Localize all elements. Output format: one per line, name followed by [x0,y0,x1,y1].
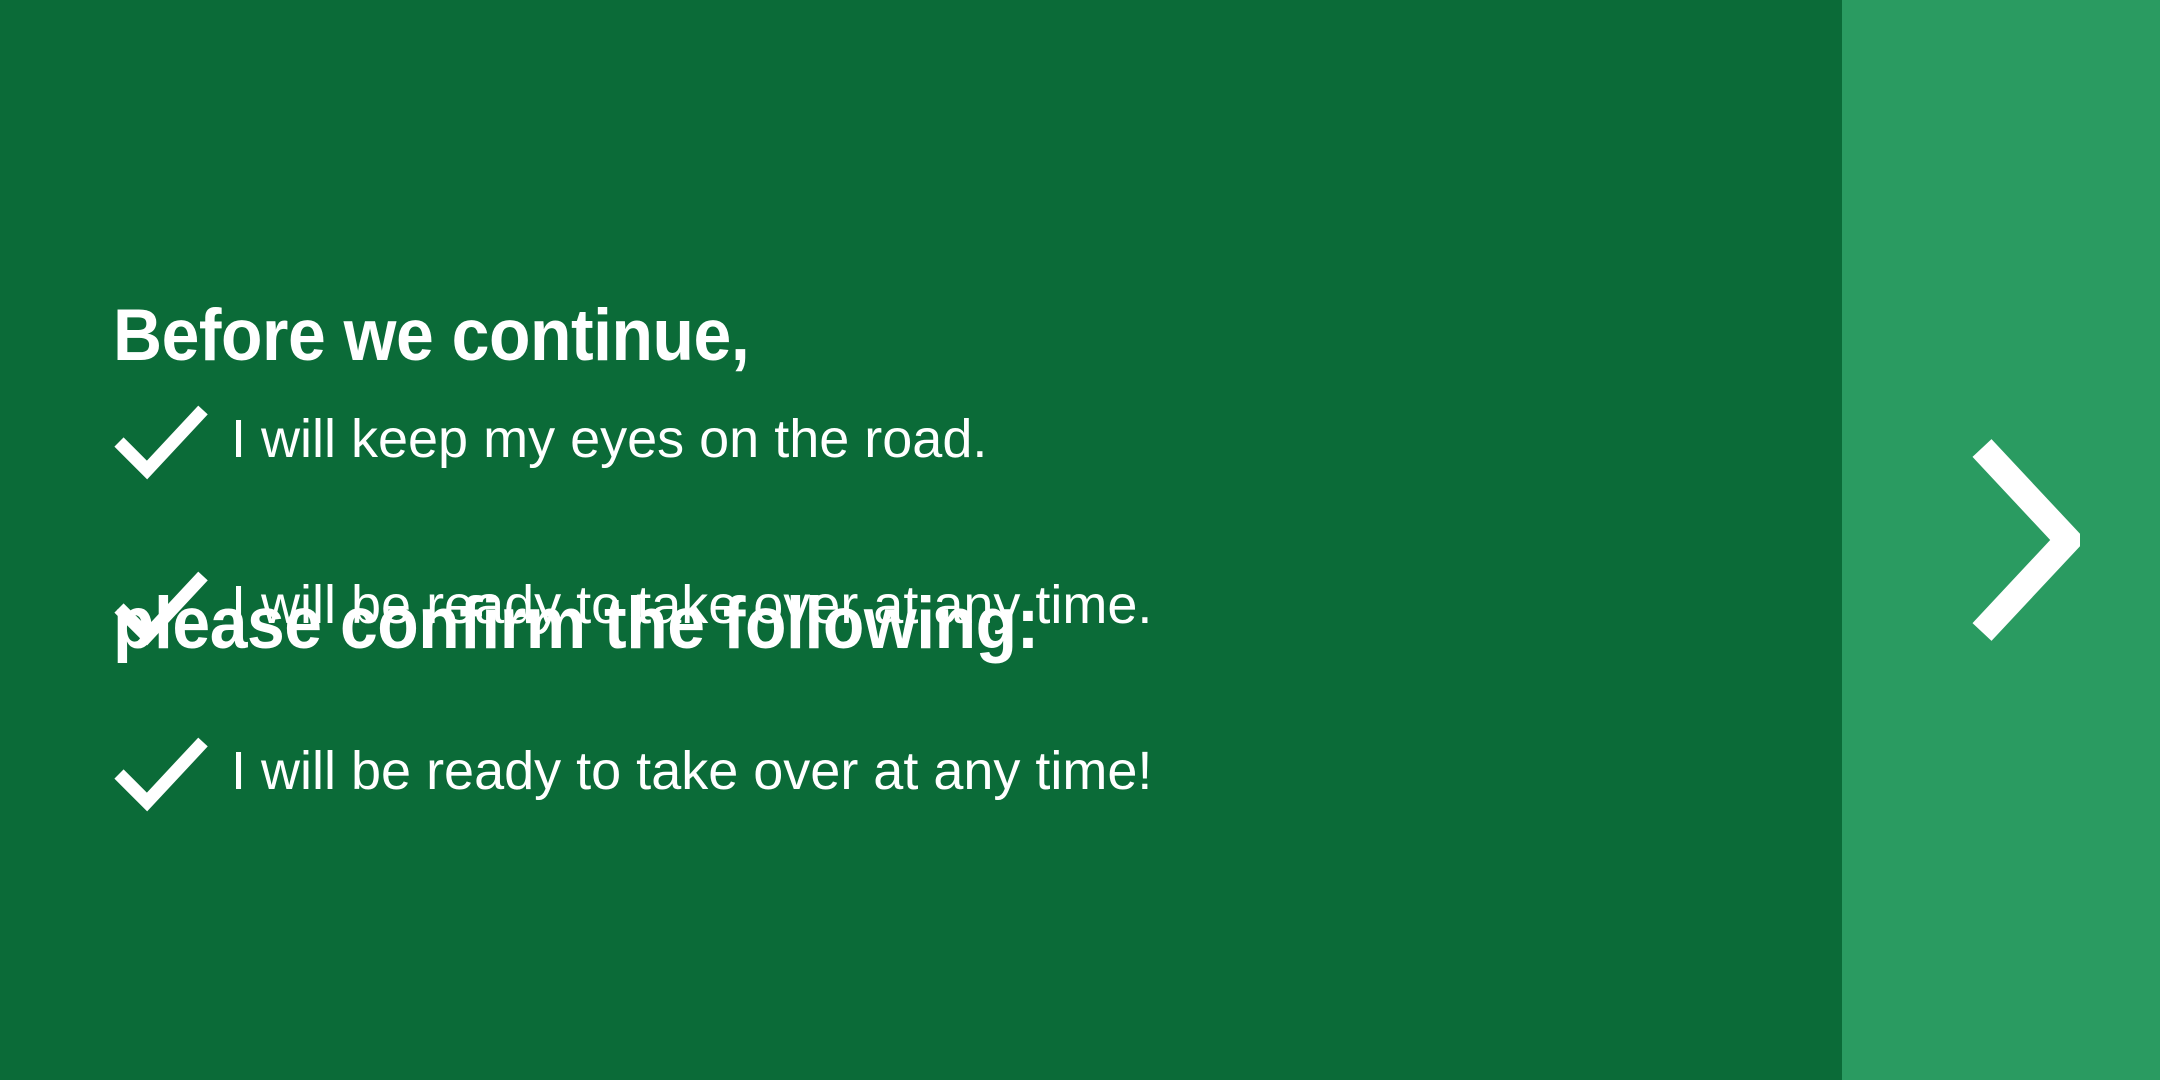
side-panel [1842,0,2160,1080]
chevron-right-icon [1970,438,2080,642]
confirmation-screen: Before we continue, please confirm the f… [0,0,2160,1080]
list-item[interactable]: I will keep my eyes on the road. [113,392,1713,558]
next-button[interactable] [1842,0,2160,1080]
content-panel: Before we continue, please confirm the f… [0,0,1842,1080]
list-item-label: I will keep my eyes on the road. [231,404,987,474]
list-item[interactable]: I will be ready to take over at any time… [113,724,1713,890]
list-item-label: I will be ready to take over at any time… [231,736,1152,806]
confirmation-checklist: I will keep my eyes on the road. I will … [113,392,1713,890]
page-title-line-1: Before we continue, [113,288,1039,384]
check-icon [113,558,209,654]
check-icon [113,392,209,488]
check-icon [113,724,209,820]
list-item-label: I will be ready to take over at any time… [231,570,1152,640]
list-item[interactable]: I will be ready to take over at any time… [113,558,1713,724]
